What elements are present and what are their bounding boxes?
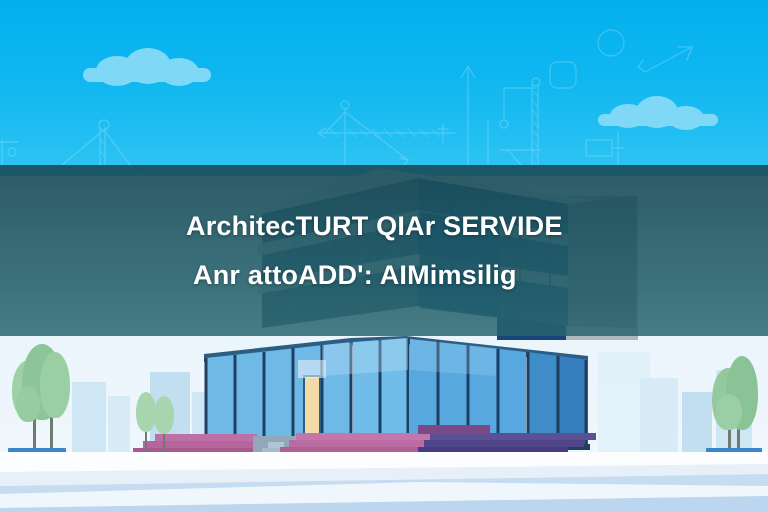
up-arrow-icon [461, 66, 475, 165]
hero-title-line-2: Anr attoADD': AIMimsilig [193, 262, 768, 289]
plaza-ground [0, 452, 768, 512]
hero-title-block: ArchitecTURT QIAr SERVIDE Anr attoADD': … [0, 165, 768, 336]
entrance-door-header [298, 360, 326, 378]
rounded-square-node-icon [550, 62, 576, 88]
diagonal-arrow-icon [638, 47, 692, 72]
tower-crane-right-icon [500, 78, 540, 178]
circle-node-icon [598, 30, 624, 56]
hero-title-line-1: ArchitecTURT QIAr SERVIDE [186, 213, 768, 240]
hero-illustration: ArchitecTURT QIAr SERVIDE Anr attoADD': … [0, 0, 768, 512]
